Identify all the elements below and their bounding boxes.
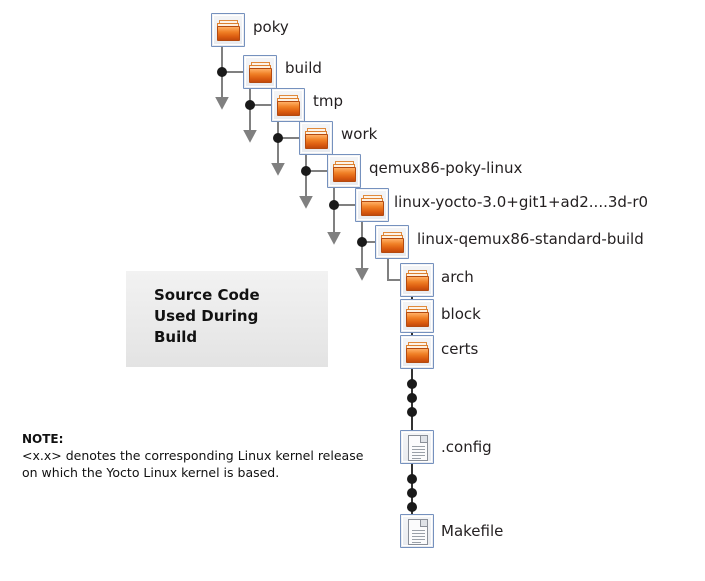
tree-label-makefile: Makefile — [441, 523, 503, 540]
folder-icon — [400, 335, 434, 369]
tree-label-work: work — [341, 126, 377, 143]
tree-node-qemux86-poky-linux[interactable] — [327, 154, 361, 188]
note-title: NOTE: — [22, 431, 394, 447]
folder-icon — [355, 188, 389, 222]
folder-icon — [271, 88, 305, 122]
tree-node-work[interactable] — [299, 121, 333, 155]
tree-label-arch: arch — [441, 269, 474, 286]
folder-icon — [400, 299, 434, 333]
document-icon — [400, 514, 434, 548]
note-body: <x.x> denotes the corresponding Linux ke… — [22, 447, 382, 481]
directory-tree-diagram: poky build tmp work qemux86-poky-linux l… — [0, 0, 705, 581]
tree-label-block: block — [441, 306, 481, 323]
folder-icon — [375, 225, 409, 259]
tree-node-tmp[interactable] — [271, 88, 305, 122]
tree-label-linux-yocto: linux-yocto-3.0+git1+ad2....3d-r0 — [394, 194, 648, 211]
tree-node-linux-qemux86-standard-build[interactable] — [375, 225, 409, 259]
tree-label-poky: poky — [253, 19, 289, 36]
tree-connectors — [0, 0, 705, 581]
folder-icon — [211, 13, 245, 47]
document-icon — [400, 430, 434, 464]
folder-icon — [400, 263, 434, 297]
folder-icon — [243, 55, 277, 89]
tree-node-certs[interactable] — [400, 335, 434, 369]
tree-label-tmp: tmp — [313, 93, 343, 110]
tree-node-config[interactable] — [400, 430, 434, 464]
ellipsis-dots-lower — [407, 474, 417, 512]
tree-label-config: .config — [441, 439, 492, 456]
ellipsis-dots-upper — [407, 379, 417, 417]
tree-node-block[interactable] — [400, 299, 434, 333]
folder-icon — [299, 121, 333, 155]
folder-icon — [327, 154, 361, 188]
tree-node-linux-yocto[interactable] — [355, 188, 389, 222]
tree-node-makefile[interactable] — [400, 514, 434, 548]
callout-text: Source Code Used During Build — [154, 285, 260, 348]
tree-label-certs: certs — [441, 341, 478, 358]
note-block: NOTE: <x.x> denotes the corresponding Li… — [22, 431, 394, 481]
tree-node-arch[interactable] — [400, 263, 434, 297]
tree-label-build: build — [285, 60, 322, 77]
source-code-callout-box: Source Code Used During Build — [126, 271, 328, 367]
tree-node-poky[interactable] — [211, 13, 245, 47]
tree-label-qemux86-poky-linux: qemux86-poky-linux — [369, 160, 522, 177]
tree-label-linux-qemux86-standard-build: linux-qemux86-standard-build — [417, 231, 644, 248]
tree-node-build[interactable] — [243, 55, 277, 89]
